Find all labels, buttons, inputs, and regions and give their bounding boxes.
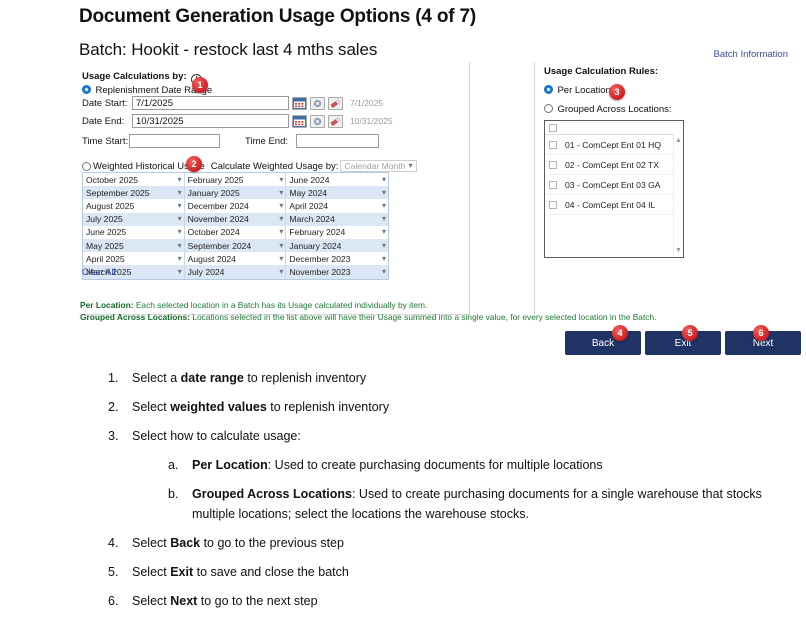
chevron-down-icon: ▾ [279, 242, 283, 250]
month-weight-value: January 2025 [188, 188, 240, 198]
month-weight-value: April 2024 [289, 201, 328, 211]
time-end-input[interactable] [296, 134, 379, 148]
location-checkbox[interactable] [549, 201, 557, 209]
radio-per-location[interactable]: Per Location [544, 80, 611, 98]
callout-badge-4: 4 [612, 325, 628, 341]
page-title: Document Generation Usage Options (4 of … [79, 6, 476, 28]
chevron-down-icon: ▾ [382, 242, 386, 250]
chevron-down-icon: ▾ [382, 176, 386, 184]
calculate-weighted-usage-select[interactable]: Calendar Month ▾ [340, 160, 416, 172]
eraser-icon[interactable] [328, 97, 343, 110]
step-text: Select Next to go to the next step [132, 591, 798, 611]
step-number: 5. [108, 562, 132, 582]
location-checkbox[interactable] [549, 141, 557, 149]
month-weight-select[interactable]: July 2024▾ [185, 265, 287, 278]
month-weight-value: April 2025 [86, 254, 125, 264]
step-text: Grouped Across Locations: Used to create… [192, 484, 798, 524]
calendar-icon[interactable] [292, 115, 307, 128]
step-text: Per Location: Used to create purchasing … [192, 455, 798, 475]
chevron-down-icon: ▾ [279, 268, 283, 276]
chevron-down-icon: ▾ [178, 255, 182, 263]
step-text: Select a date range to replenish invento… [132, 368, 798, 388]
legend-grouped: Grouped Across Locations: Locations sele… [80, 312, 784, 324]
calculate-weighted-usage-label: Calculate Weighted Usage by: [211, 161, 339, 172]
instruction-substep: a.Per Location: Used to create purchasin… [168, 455, 798, 475]
month-weight-row: October 2025▾February 2025▾June 2024▾ [83, 173, 388, 186]
date-start-label: Date Start: [82, 98, 129, 109]
usage-calculations-panel: Usage Calculations by: i Replenishment D… [79, 62, 470, 315]
step-text: Select how to calculate usage: [132, 426, 798, 446]
location-checkbox[interactable] [549, 161, 557, 169]
page-subtitle: Batch: Hookit - restock last 4 mths sale… [79, 40, 377, 60]
instruction-list: 1.Select a date range to replenish inven… [108, 368, 798, 620]
month-weight-row: July 2025▾November 2024▾March 2024▾ [83, 213, 388, 226]
chevron-down-icon: ▾ [178, 215, 182, 223]
month-weight-value: August 2024 [188, 254, 236, 264]
time-start-label: Time Start: [82, 136, 129, 147]
month-weight-value: May 2024 [289, 188, 327, 198]
instruction-step: 2.Select weighted values to replenish in… [108, 397, 798, 417]
step-number: 6. [108, 591, 132, 611]
month-weight-row: September 2025▾January 2025▾May 2024▾ [83, 186, 388, 199]
month-weight-value: September 2024 [188, 241, 252, 251]
eraser-icon[interactable] [328, 115, 343, 128]
scroll-down-icon[interactable]: ▼ [674, 246, 683, 255]
weighted-historical-usage-row: Weighted Historical Usage Calculate Weig… [82, 160, 417, 172]
date-end-label: Date End: [82, 116, 129, 127]
location-label: 03 - ComCept Ent 03 GA [565, 180, 661, 190]
instruction-step: 6.Select Next to go to the next step [108, 591, 798, 611]
radio-indicator-weighted[interactable] [82, 162, 91, 171]
step-number: a. [168, 455, 192, 475]
month-weight-select[interactable]: April 2025▾ [83, 252, 185, 265]
location-list-item[interactable]: 01 - ComCept Ent 01 HQ [545, 135, 683, 155]
chevron-down-icon: ▾ [279, 255, 283, 263]
month-weight-value: February 2025 [188, 175, 244, 185]
location-checkbox[interactable] [549, 181, 557, 189]
chevron-down-icon: ▾ [382, 255, 386, 263]
month-weight-value: October 2025 [86, 175, 138, 185]
back-button[interactable]: Back [565, 331, 641, 355]
location-list-item[interactable]: 04 - ComCept Ent 04 IL [545, 195, 683, 215]
instruction-step: 3.Select how to calculate usage: [108, 426, 798, 446]
chevron-down-icon: ▾ [178, 202, 182, 210]
month-weight-value: November 2023 [289, 267, 350, 277]
location-list-item[interactable]: 02 - ComCept Ent 02 TX [545, 155, 683, 175]
time-start-input[interactable] [129, 134, 220, 148]
month-weight-value: December 2024 [188, 201, 249, 211]
chevron-down-icon: ▾ [382, 215, 386, 223]
legend-per-location: Per Location: Each selected location in … [80, 300, 784, 312]
month-weight-value: June 2025 [86, 227, 126, 237]
month-weight-select[interactable]: August 2025▾ [83, 199, 185, 212]
date-start-input[interactable] [132, 96, 289, 110]
chevron-down-icon: ▾ [279, 228, 283, 236]
month-weight-value: July 2025 [86, 214, 123, 224]
time-row: Time Start: Time End: [82, 134, 379, 148]
radio-grouped-across-locations[interactable]: Grouped Across Locations: [544, 99, 672, 117]
month-weight-select[interactable]: September 2025▾ [83, 186, 185, 199]
month-weight-select[interactable]: December 2023▾ [286, 252, 388, 265]
step-number: 2. [108, 397, 132, 417]
step-text: Select weighted values to replenish inve… [132, 397, 798, 417]
month-weight-value: January 2024 [289, 241, 341, 251]
chevron-down-icon: ▾ [178, 242, 182, 250]
radio-indicator-grouped[interactable] [544, 104, 553, 113]
time-end-label: Time End: [220, 136, 296, 147]
date-start-row: Date Start: 7/1/2025 [82, 96, 383, 110]
step-number: b. [168, 484, 192, 524]
month-weight-select[interactable]: August 2024▾ [185, 252, 287, 265]
location-label: 04 - ComCept Ent 04 IL [565, 200, 655, 210]
month-weight-row: June 2025▾October 2024▾February 2024▾ [83, 226, 388, 239]
month-weight-value: August 2025 [86, 201, 134, 211]
month-weight-select[interactable]: February 2025▾ [185, 173, 287, 186]
callout-badge-3: 3 [609, 84, 625, 100]
date-start-hint: 7/1/2025 [350, 98, 383, 108]
gear-icon[interactable] [310, 97, 325, 110]
location-label: 02 - ComCept Ent 02 TX [565, 160, 659, 170]
chevron-down-icon: ▾ [279, 215, 283, 223]
instruction-step: 4.Select Back to go to the previous step [108, 533, 798, 553]
location-list-item[interactable]: 03 - ComCept Ent 03 GA [545, 175, 683, 195]
radio-indicator-per-location[interactable] [544, 85, 553, 94]
date-end-hint: 10/31/2025 [350, 116, 393, 126]
chevron-down-icon: ▾ [178, 176, 182, 184]
legend-text: Per Location: Each selected location in … [80, 300, 784, 323]
chevron-down-icon: ▾ [178, 268, 182, 276]
month-weight-select[interactable]: January 2024▾ [286, 239, 388, 252]
month-weight-value: February 2024 [289, 227, 345, 237]
date-end-row: Date End: 10/31/2025 [82, 114, 393, 128]
chevron-down-icon: ▾ [178, 228, 182, 236]
step-text: Select Back to go to the previous step [132, 533, 798, 553]
step-number: 4. [108, 533, 132, 553]
month-weight-select[interactable]: January 2025▾ [185, 186, 287, 199]
step-number: 3. [108, 426, 132, 446]
instruction-step: 5.Select Exit to save and close the batc… [108, 562, 798, 582]
locations-scrollbar[interactable]: ▲ ▼ [673, 134, 683, 257]
month-weight-value: December 2023 [289, 254, 350, 264]
month-weight-select[interactable]: December 2024▾ [185, 199, 287, 212]
month-weight-value: May 2025 [86, 241, 124, 251]
batch-information-link[interactable]: Batch Information [714, 49, 788, 60]
month-weight-value: March 2024 [289, 214, 334, 224]
chevron-down-icon: ▾ [382, 268, 386, 276]
chevron-down-icon: ▾ [178, 189, 182, 197]
locations-header-row [545, 121, 683, 135]
location-label: 01 - ComCept Ent 01 HQ [565, 140, 661, 150]
month-weight-row: April 2025▾August 2024▾December 2023▾ [83, 252, 388, 265]
usage-calculation-rules-label: Usage Calculation Rules: [544, 66, 658, 77]
instruction-step: 1.Select a date range to replenish inven… [108, 368, 798, 388]
month-weight-select[interactable]: October 2025▾ [83, 173, 185, 186]
chevron-down-icon: ▾ [409, 162, 413, 170]
instruction-substep: b.Grouped Across Locations: Used to crea… [168, 484, 798, 524]
chevron-down-icon: ▾ [279, 202, 283, 210]
month-weight-select[interactable]: April 2024▾ [286, 199, 388, 212]
usage-calculation-rules-panel: Usage Calculation Rules: Per Location Gr… [534, 62, 786, 314]
month-weight-select[interactable]: June 2024▾ [286, 173, 388, 186]
date-end-input[interactable] [132, 114, 289, 128]
month-weight-row: August 2025▾December 2024▾April 2024▾ [83, 199, 388, 212]
month-weight-value: November 2024 [188, 214, 249, 224]
month-weight-row: March 2025▾July 2024▾November 2023▾ [83, 265, 388, 278]
month-weight-select[interactable]: November 2023▾ [286, 265, 388, 278]
step-text: Select Exit to save and close the batch [132, 562, 798, 582]
clear-all-link[interactable]: Clear All [82, 267, 116, 277]
month-weight-select[interactable]: November 2024▾ [185, 213, 287, 226]
month-weight-select[interactable]: March 2024▾ [286, 213, 388, 226]
month-weight-select[interactable]: October 2024▾ [185, 226, 287, 239]
month-weight-value: October 2024 [188, 227, 240, 237]
step-number: 1. [108, 368, 132, 388]
calendar-icon[interactable] [292, 97, 307, 110]
callout-badge-2: 2 [186, 156, 202, 172]
chevron-down-icon: ▾ [279, 189, 283, 197]
month-weight-select[interactable]: September 2024▾ [185, 239, 287, 252]
chevron-down-icon: ▾ [279, 176, 283, 184]
month-weight-select[interactable]: July 2025▾ [83, 213, 185, 226]
chevron-down-icon: ▾ [382, 202, 386, 210]
select-all-checkbox[interactable] [549, 124, 557, 132]
callout-badge-5: 5 [682, 325, 698, 341]
month-weight-select[interactable]: June 2025▾ [83, 226, 185, 239]
month-weight-row: May 2025▾September 2024▾January 2024▾ [83, 239, 388, 252]
month-weight-select[interactable]: May 2024▾ [286, 186, 388, 199]
month-weight-select[interactable]: May 2025▾ [83, 239, 185, 252]
callout-badge-6: 6 [753, 325, 769, 341]
application-screenshot: Usage Calculations by: i Replenishment D… [79, 62, 785, 359]
chevron-down-icon: ▾ [382, 189, 386, 197]
radio-indicator-replenishment[interactable] [82, 85, 91, 94]
month-weight-grid: October 2025▾February 2025▾June 2024▾Sep… [82, 172, 389, 280]
month-weight-value: July 2024 [188, 267, 225, 277]
gear-icon[interactable] [310, 115, 325, 128]
callout-badge-1: 1 [192, 77, 208, 93]
month-weight-value: September 2025 [86, 188, 150, 198]
month-weight-select[interactable]: February 2024▾ [286, 226, 388, 239]
locations-listbox[interactable]: 01 - ComCept Ent 01 HQ02 - ComCept Ent 0… [544, 120, 684, 258]
month-weight-value: June 2024 [289, 175, 329, 185]
page-root: Document Generation Usage Options (4 of … [0, 0, 806, 583]
chevron-down-icon: ▾ [382, 228, 386, 236]
scroll-up-icon[interactable]: ▲ [674, 136, 683, 145]
